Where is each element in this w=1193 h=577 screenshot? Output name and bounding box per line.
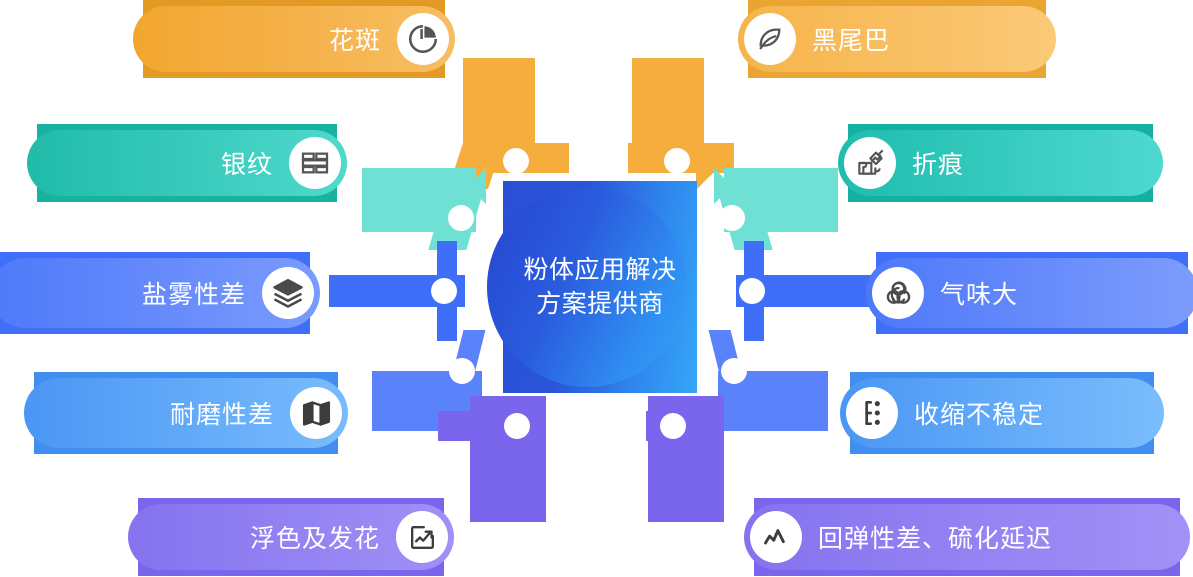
- node-label: 浮色及发花: [250, 519, 380, 555]
- node-naimoxingcha[interactable]: 耐磨性差: [24, 372, 348, 454]
- arrow-head: [468, 168, 486, 204]
- recycle-icon: [872, 267, 924, 319]
- layers-icon: [262, 267, 314, 319]
- sitemap-icon: [846, 387, 898, 439]
- node-label: 花斑: [329, 21, 381, 57]
- arrow-head: [696, 150, 716, 190]
- node-label: 耐磨性差: [170, 395, 274, 431]
- map-icon: [290, 387, 342, 439]
- connector-dot: [449, 358, 475, 384]
- infographic-canvas: 粉体应用解决 方案提供商 花斑: [0, 0, 1193, 577]
- node-huaban[interactable]: 花斑: [133, 0, 455, 78]
- node-label: 收缩不稳定: [914, 395, 1044, 431]
- leaf-icon: [744, 13, 796, 65]
- connector-dot: [739, 278, 765, 304]
- brick-wall-icon: [289, 137, 341, 189]
- pie-chart-icon: [397, 13, 449, 65]
- connector-dot: [503, 148, 529, 174]
- arrow-head: [714, 168, 732, 204]
- puzzle-piece-icon: [844, 137, 896, 189]
- node-huitanxingcha[interactable]: 回弹性差、硫化延迟: [744, 498, 1190, 576]
- connector-dot: [504, 413, 530, 439]
- node-fusejifahua[interactable]: 浮色及发花: [128, 498, 454, 576]
- node-shousuobuwending[interactable]: 收缩不稳定: [840, 372, 1164, 454]
- center-title-line1: 粉体应用解决: [503, 253, 697, 287]
- node-yinwen[interactable]: 银纹: [27, 124, 347, 202]
- connector-dot: [664, 148, 690, 174]
- line-chart-icon: [750, 511, 802, 563]
- node-qiweida[interactable]: 气味大: [866, 252, 1193, 334]
- node-zhehen[interactable]: 折痕: [838, 124, 1163, 202]
- center-title-line2: 方案提供商: [503, 287, 697, 321]
- node-label: 折痕: [912, 145, 964, 181]
- connector-dot: [448, 205, 474, 231]
- node-label: 黑尾巴: [812, 21, 890, 57]
- center-node: 粉体应用解决 方案提供商: [503, 181, 697, 393]
- node-heiweiba[interactable]: 黑尾巴: [738, 0, 1056, 78]
- chart-arrow-icon: [396, 511, 448, 563]
- node-label: 气味大: [940, 275, 1018, 311]
- connector-dot: [431, 278, 457, 304]
- node-label: 银纹: [221, 145, 273, 181]
- node-label: 回弹性差、硫化延迟: [818, 519, 1052, 555]
- node-yanwuxingcha[interactable]: 盐雾性差: [0, 252, 320, 334]
- connector-dot: [721, 358, 747, 384]
- connector-dot: [660, 413, 686, 439]
- center-title: 粉体应用解决 方案提供商: [503, 253, 697, 321]
- node-label: 盐雾性差: [142, 275, 246, 311]
- connector-dot: [719, 205, 745, 231]
